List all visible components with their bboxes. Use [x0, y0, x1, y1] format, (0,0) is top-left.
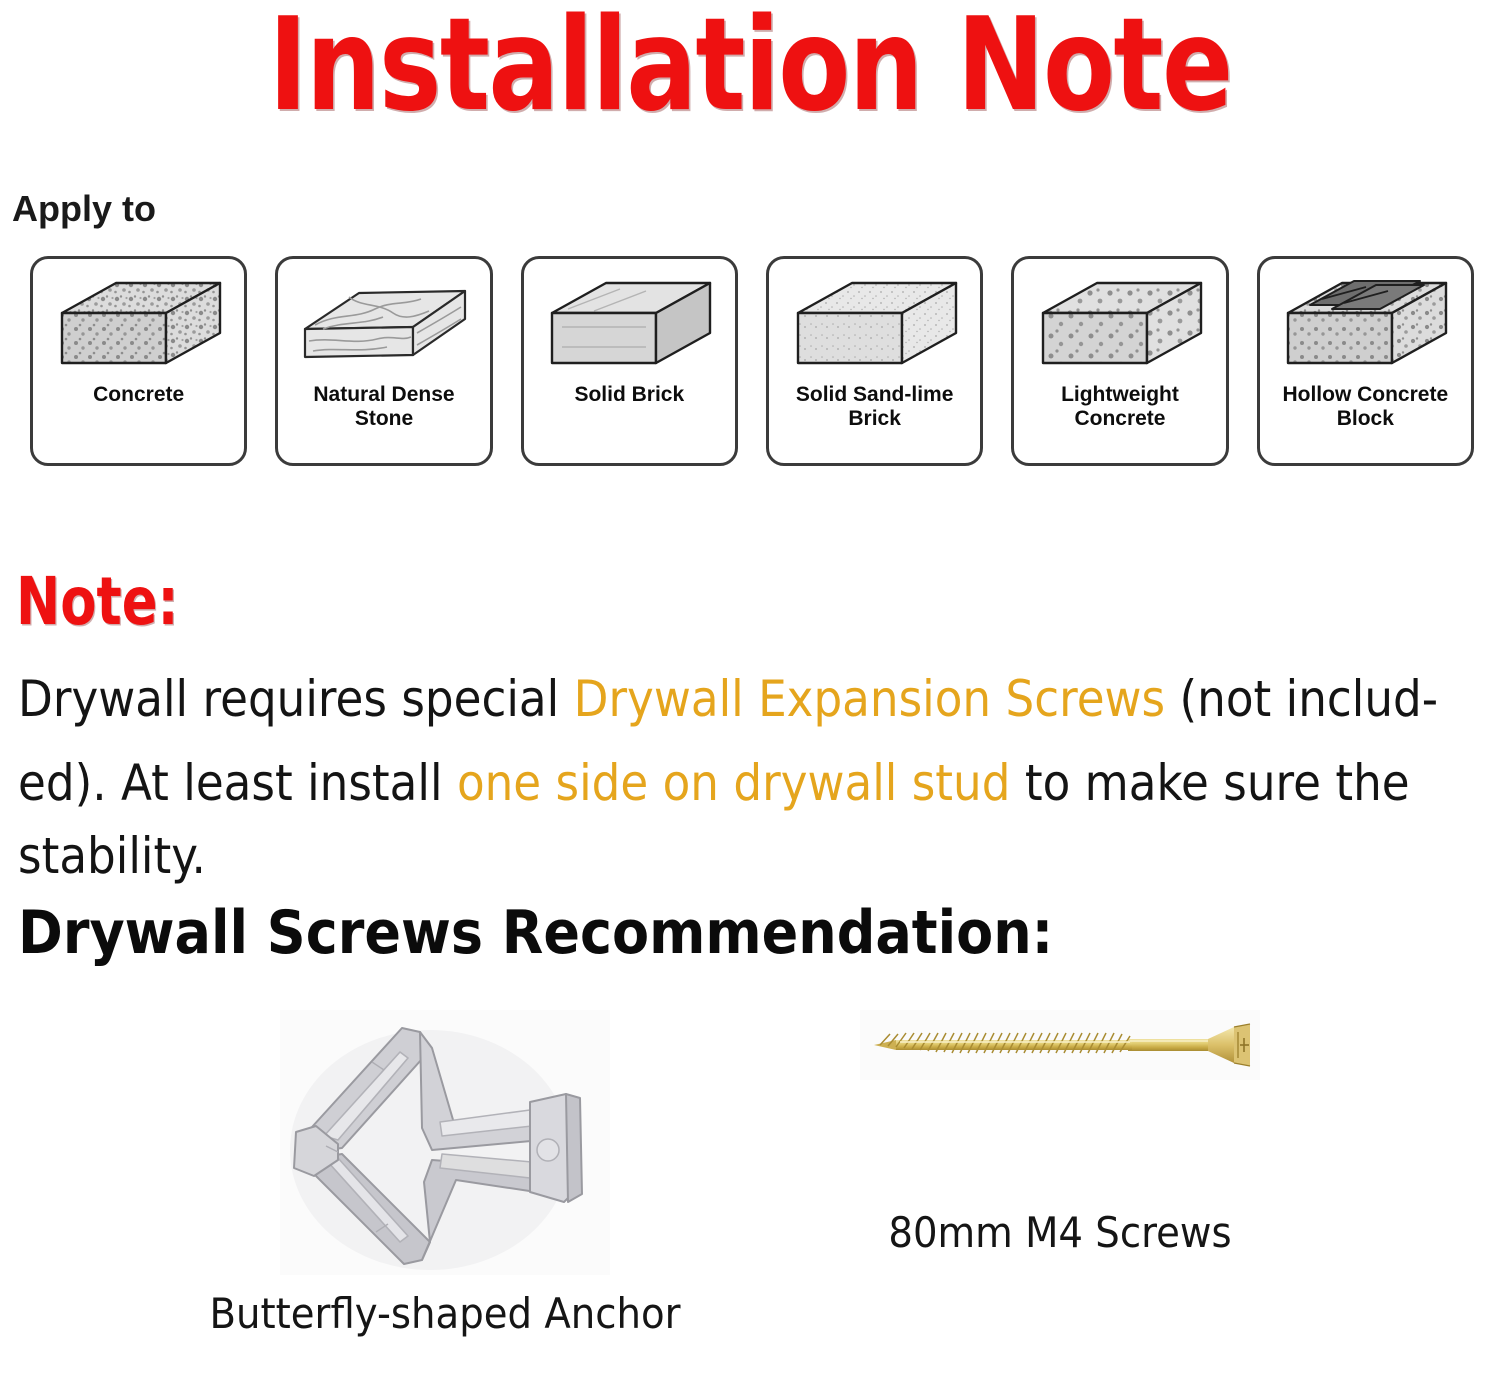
- note-body: Drywall requires special Drywall Expansi…: [18, 657, 1356, 887]
- material-card-lightweight-concrete: Lightweight Concrete: [1011, 256, 1228, 466]
- note-line-2-highlight: one side on drywall stud: [457, 754, 1011, 812]
- material-card-list: Concrete Natural Dense Stone: [30, 256, 1474, 466]
- product-caption: 80mm M4 Screws: [784, 1208, 1336, 1258]
- note-line-1-post: (not includ-: [1165, 670, 1438, 728]
- apply-to-label: Apply to: [12, 188, 156, 230]
- note-line-2-post: to make sure the: [1010, 754, 1409, 812]
- material-card-solid-sand-lime-brick: Solid Sand-lime Brick: [766, 256, 983, 466]
- page-title: Installation Note: [135, 0, 1365, 136]
- recommended-products: Butterfly-shaped Anchor: [0, 1000, 1500, 1374]
- product-screw: 80mm M4 Screws: [760, 1010, 1360, 1258]
- note-heading: Note:: [16, 566, 179, 638]
- material-card-label: Natural Dense Stone: [278, 383, 489, 431]
- lightweight-concrete-icon: [1025, 267, 1215, 385]
- note-line-1: Drywall requires special Drywall Expansi…: [18, 657, 1356, 741]
- material-card-label: Solid Sand-lime Brick: [769, 383, 980, 431]
- material-card-solid-brick: Solid Brick: [521, 256, 738, 466]
- solid-brick-icon: [534, 267, 724, 385]
- material-card-label: Concrete: [89, 383, 188, 407]
- material-card-natural-dense-stone: Natural Dense Stone: [275, 256, 492, 466]
- note-line-1-pre: Drywall requires special: [18, 670, 574, 728]
- butterfly-anchor-photo: [280, 1010, 610, 1275]
- note-line-2: ed). At least install one side on drywal…: [18, 741, 1356, 825]
- material-card-concrete: Concrete: [30, 256, 247, 466]
- natural-dense-stone-icon: [289, 267, 479, 385]
- hollow-concrete-block-icon: [1270, 267, 1460, 385]
- material-card-label: Hollow Concrete Block: [1260, 383, 1471, 431]
- note-line-1-highlight: Drywall Expansion Screws: [574, 670, 1166, 728]
- note-line-3: stability.: [18, 825, 1356, 887]
- material-card-label: Solid Brick: [570, 383, 688, 407]
- product-caption: Butterfly-shaped Anchor: [187, 1289, 702, 1339]
- note-line-2-pre: ed). At least install: [18, 754, 457, 812]
- solid-sand-lime-brick-icon: [780, 267, 970, 385]
- recommendation-heading: Drywall Screws Recommendation:: [18, 898, 1053, 968]
- product-butterfly-anchor: Butterfly-shaped Anchor: [165, 1010, 725, 1339]
- material-card-label: Lightweight Concrete: [1014, 383, 1225, 431]
- concrete-block-icon: [44, 267, 234, 385]
- screw-photo: [860, 1010, 1260, 1080]
- material-card-hollow-concrete-block: Hollow Concrete Block: [1257, 256, 1474, 466]
